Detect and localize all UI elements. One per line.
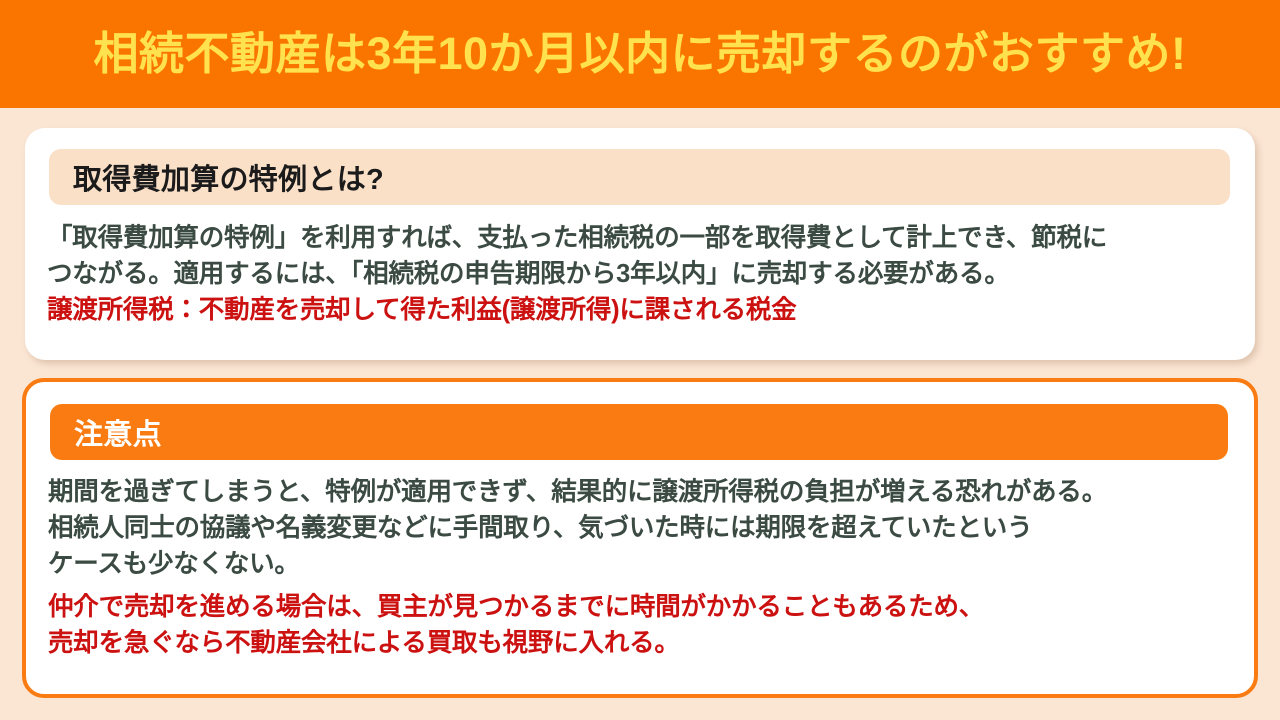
card-chuiten-line-3: ケースも少なくない。 bbox=[48, 546, 1236, 582]
card-chuiten-line-5: 売却を急ぐなら不動産会社による買取も視野に入れる。 bbox=[48, 625, 1236, 661]
card-chuiten-heading-text: 注意点 bbox=[74, 411, 162, 453]
card-tokurei: 取得費加算の特例とは? 「取得費加算の特例」を利用すれば、支払った相続税の一部を… bbox=[25, 128, 1255, 360]
page-title: 相続不動産は3年10か月以内に売却するのがおすすめ! bbox=[93, 30, 1186, 77]
card-tokurei-line-1: 「取得費加算の特例」を利用すれば、支払った相続税の一部を取得費として計上でき、節… bbox=[47, 220, 1237, 256]
card-chuiten-line-1: 期間を過ぎてしまうと、特例が適用できず、結果的に譲渡所得税の負担が増える恐れがあ… bbox=[48, 474, 1236, 510]
card-tokurei-body: 「取得費加算の特例」を利用すれば、支払った相続税の一部を取得費として計上でき、節… bbox=[47, 220, 1237, 329]
card-tokurei-heading-bar: 取得費加算の特例とは? bbox=[49, 149, 1230, 205]
card-chuiten-heading-bar: 注意点 bbox=[50, 404, 1228, 460]
card-tokurei-line-3: 譲渡所得税：不動産を売却して得た利益(譲渡所得)に課される税金 bbox=[47, 292, 1237, 328]
card-chuiten-line-2: 相続人同士の協議や名義変更などに手間取り、気づいた時には期限を超えていたという bbox=[48, 510, 1236, 546]
card-chuiten-body: 期間を過ぎてしまうと、特例が適用できず、結果的に譲渡所得税の負担が増える恐れがあ… bbox=[48, 474, 1236, 661]
card-tokurei-heading-text: 取得費加算の特例とは? bbox=[73, 156, 384, 198]
card-tokurei-line-2: つながる。適用するには、「相続税の申告期限から3年以内」に売却する必要がある。 bbox=[47, 256, 1237, 292]
card-chuiten-line-4: 仲介で売却を進める場合は、買主が見つかるまでに時間がかかることもあるため、 bbox=[48, 589, 1236, 625]
slide-root: 相続不動産は3年10か月以内に売却するのがおすすめ! 取得費加算の特例とは? 「… bbox=[0, 0, 1280, 720]
header-banner: 相続不動産は3年10か月以内に売却するのがおすすめ! bbox=[0, 0, 1280, 108]
card-chuiten: 注意点 期間を過ぎてしまうと、特例が適用できず、結果的に譲渡所得税の負担が増える… bbox=[22, 378, 1258, 698]
